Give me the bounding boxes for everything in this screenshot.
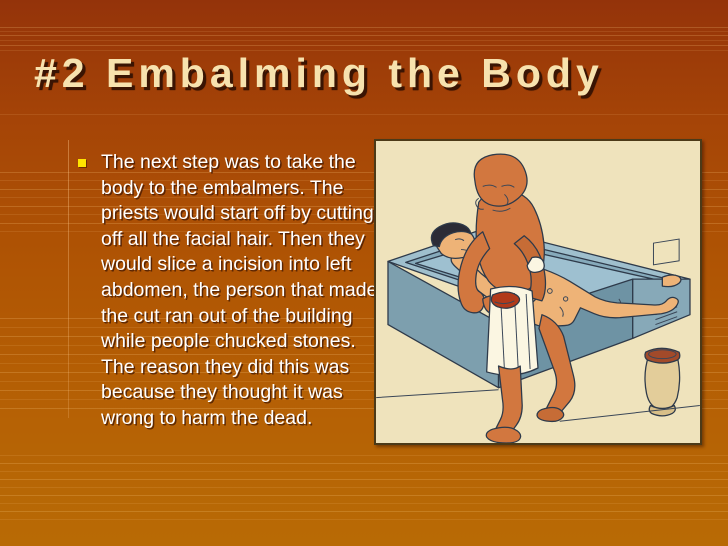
slide-canvas: #2 Embalming the Body The next step was …	[0, 0, 728, 546]
embalming-illustration: .ol { stroke:#2e3a4a; stroke-width:1.3; …	[374, 139, 702, 445]
incision-tool	[491, 292, 519, 308]
canopic-jar	[645, 348, 680, 416]
embalming-scene-graphic: .ol { stroke:#2e3a4a; stroke-width:1.3; …	[376, 141, 700, 443]
bullet-column-rule	[68, 140, 69, 418]
bullet-list: The next step was to take the body to th…	[78, 150, 378, 432]
bullet-item-text: The next step was to take the body to th…	[101, 150, 378, 432]
slide-title: #2 Embalming the Body	[34, 52, 694, 95]
square-bullet-icon	[78, 159, 86, 167]
